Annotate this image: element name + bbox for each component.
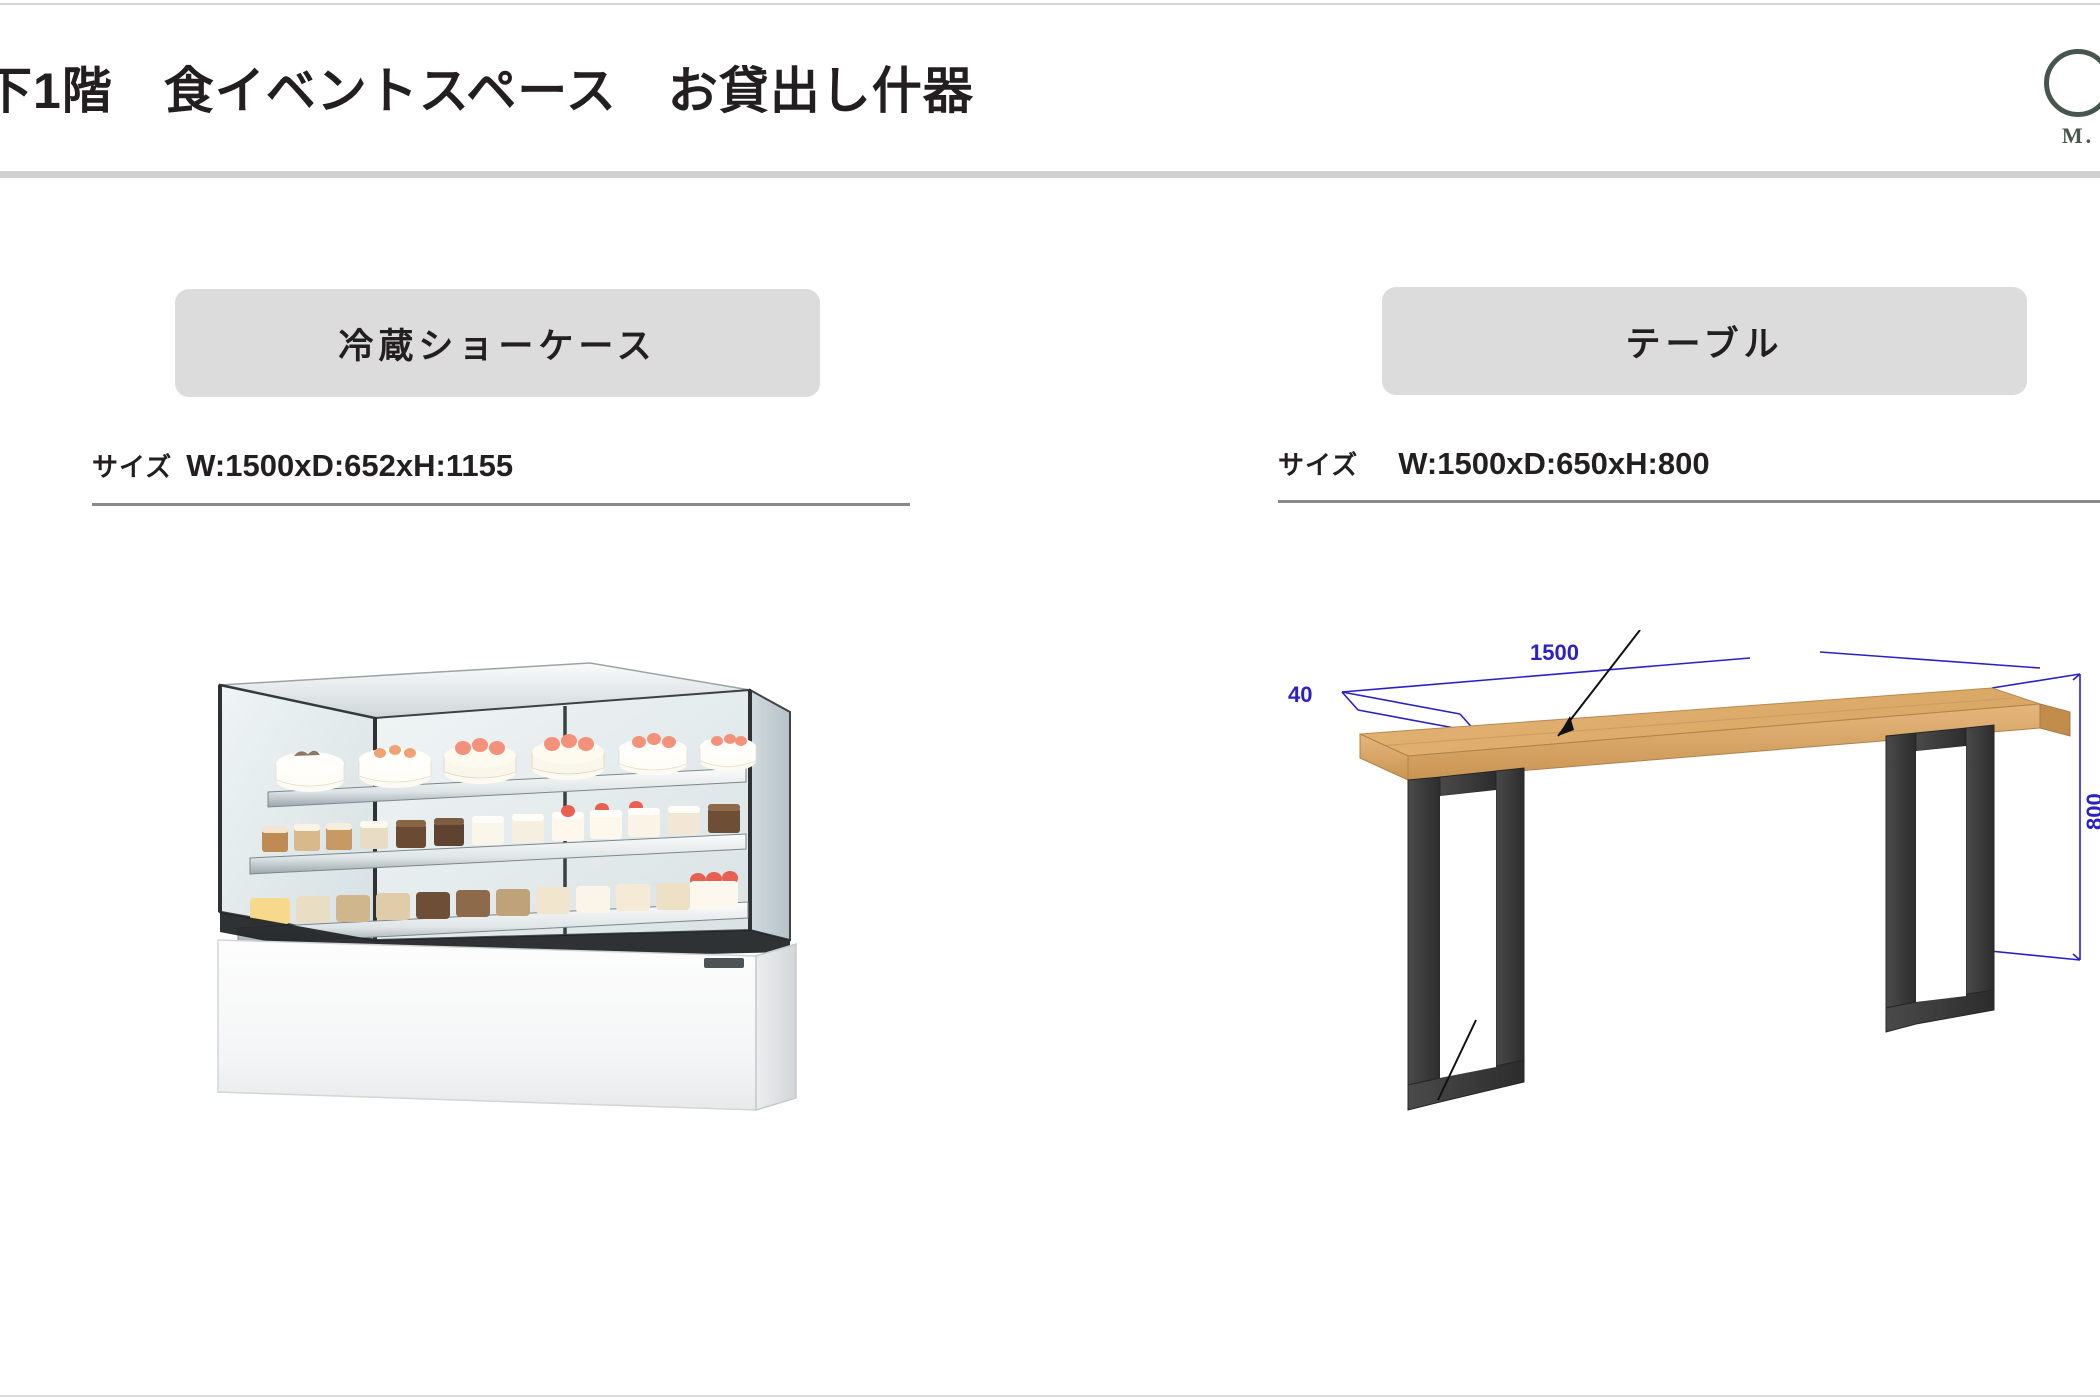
size-row-showcase: サイズ W:1500xD:652xH:1155 xyxy=(92,447,513,484)
product-name-label: 冷蔵ショーケース xyxy=(338,318,656,369)
brand-wordmark: M. xyxy=(2030,123,2100,149)
product-name-pill-table: テーブル xyxy=(1382,287,2027,395)
header-divider xyxy=(0,171,2100,178)
dimension-width-label: 1500 xyxy=(1530,640,1579,665)
page-title: 下1階 食イベントスペース お貸出し什器 xyxy=(0,51,974,123)
size-value: W:1500xD:650xH:800 xyxy=(1398,446,1709,482)
page-bottom-rule xyxy=(0,1395,2100,1397)
refrigerated-showcase-photo xyxy=(190,640,830,1140)
product-name-label: テーブル xyxy=(1626,316,1784,367)
size-caption: サイズ xyxy=(1278,445,1358,482)
size-underline-showcase xyxy=(92,503,910,506)
page-header: 下1階 食イベントスペース お貸出し什器 M. xyxy=(0,5,2100,171)
size-row-table: サイズ W:1500xD:650xH:800 xyxy=(1278,445,1710,482)
size-underline-table xyxy=(1278,500,2100,503)
product-name-pill-showcase: 冷蔵ショーケース xyxy=(175,289,820,397)
size-caption: サイズ xyxy=(92,447,172,484)
circle-logo-mark xyxy=(2044,49,2100,117)
size-value: W:1500xD:652xH:1155 xyxy=(186,448,513,484)
dimension-height-label: 800 xyxy=(2082,793,2100,830)
dimension-thickness-label: 40 xyxy=(1288,682,1312,707)
brand-logo: M. xyxy=(2030,49,2100,149)
table-technical-drawing: 1500 40 800 xyxy=(1280,630,2100,1190)
